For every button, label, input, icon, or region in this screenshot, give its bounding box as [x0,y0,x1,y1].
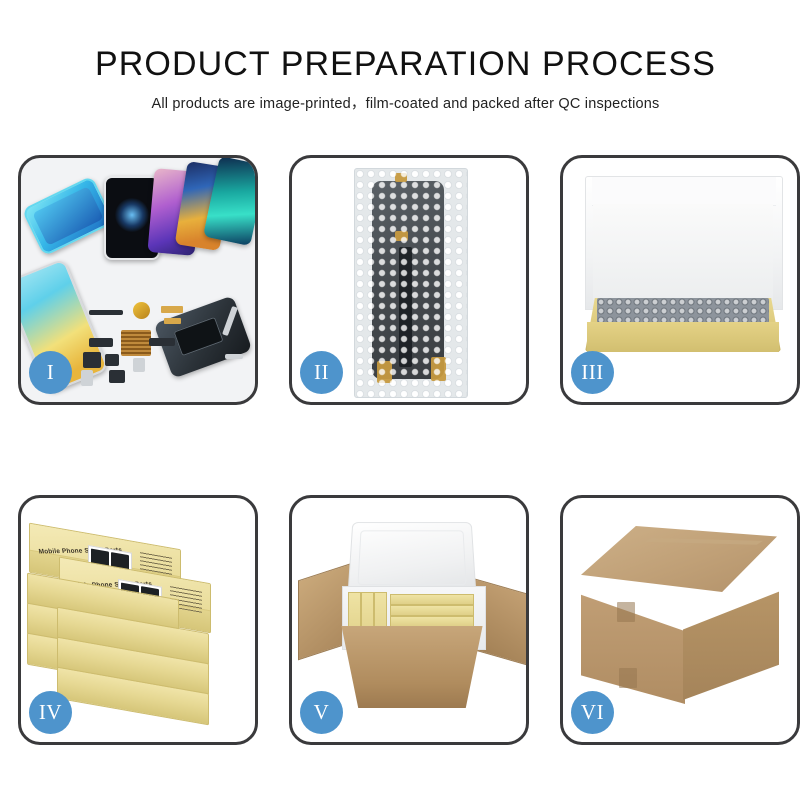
page-header: PRODUCT PREPARATION PROCESS All products… [0,0,811,115]
step-badge-3: III [571,351,614,394]
connector-part-b [83,352,101,368]
process-step-1[interactable]: I [18,155,258,405]
kraft-box-front-panel [587,322,779,352]
process-step-grid: I II III [18,155,800,745]
foam-box-lid [348,522,477,594]
carton-top-face [581,526,777,592]
bubble-wrap-bag [354,168,468,398]
earpiece-speaker-part [89,310,123,315]
flex-cable-part-b [164,318,181,324]
carton-patch-upper [617,602,635,622]
step-badge-1: I [29,351,72,394]
process-step-3[interactable]: III [560,155,800,405]
step-badge-6: VI [571,691,614,734]
process-step-2[interactable]: II [289,155,529,405]
battery-connector-part [133,358,145,372]
yellow-box-5 [390,605,474,616]
speaker-mesh-part [121,330,151,356]
page-subtitle: All products are image-printed，film-coat… [0,93,811,115]
outer-carton-body [328,626,496,708]
sim-tray-part [81,370,93,386]
bubble-texture-overlay [355,169,467,397]
carton-patch-lower [619,668,637,688]
carton-right-face [683,574,779,700]
home-button-flex-part [149,338,175,346]
connector-part-a [89,338,113,347]
white-foam-sheet [593,204,773,300]
screwdriver-tool [225,354,243,359]
page-title: PRODUCT PREPARATION PROCESS [0,44,811,84]
wireless-coil-part [133,302,150,319]
button-part [105,354,119,366]
flex-cable-part-a [161,306,183,313]
process-step-4[interactable]: Mobile Phone Spare Parts Mobile Phone Sp… [18,495,258,745]
process-step-5[interactable]: V [289,495,529,745]
process-step-6[interactable]: VI [560,495,800,745]
step-badge-5: V [300,691,343,734]
blue-screen-protector [22,176,115,257]
yellow-box-6 [390,616,474,627]
yellow-box-4 [390,594,474,605]
step-badge-4: IV [29,691,72,734]
camera-module-part [109,370,125,383]
step-badge-2: II [300,351,343,394]
